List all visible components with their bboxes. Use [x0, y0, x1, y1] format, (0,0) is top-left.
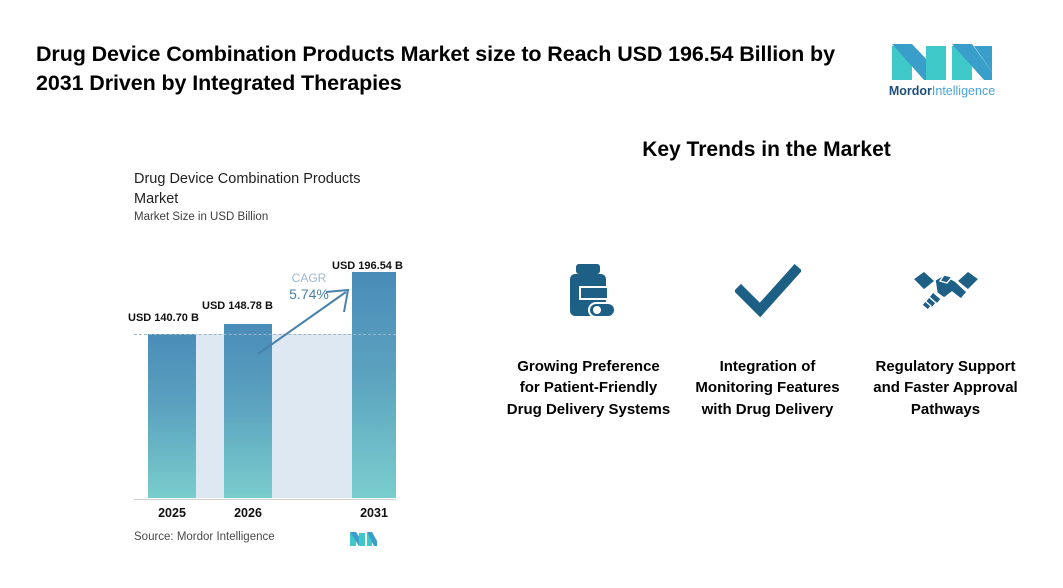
medicine-bottle-icon — [506, 248, 671, 334]
checkmark-icon — [685, 248, 850, 334]
chart-source: Source: Mordor Intelligence — [134, 531, 275, 543]
handshake-icon — [863, 248, 1028, 334]
logo-mark-icon — [886, 32, 998, 82]
x-axis-labels: 2025 2026 2031 — [134, 506, 396, 526]
chart-title: Drug Device Combination Products Market — [134, 170, 404, 209]
trend-text-1: Growing Preference for Patient-Friendly … — [506, 356, 671, 420]
bar-chart-plot: USD 140.70 B USD 148.78 B USD 196.54 B C… — [134, 272, 396, 498]
bar-label-2025: USD 140.70 B — [128, 312, 199, 324]
chart-subtitle: Market Size in USD Billion — [134, 211, 414, 223]
logo-brand-bold: Mordor — [889, 84, 932, 98]
growth-arrow-icon — [254, 280, 364, 358]
trend-item-2: Integration of Monitoring Features with … — [685, 248, 850, 420]
page-headline: Drug Device Combination Products Market … — [36, 40, 866, 98]
trend-item-1: Growing Preference for Patient-Friendly … — [506, 248, 671, 420]
trend-text-2: Integration of Monitoring Features with … — [685, 356, 850, 420]
trend-text-3: Regulatory Support and Faster Approval P… — [863, 356, 1028, 420]
x-tick-2025: 2025 — [148, 506, 196, 520]
x-axis-line — [134, 499, 396, 500]
x-tick-2026: 2026 — [224, 506, 272, 520]
bar-label-2031: USD 196.54 B — [332, 260, 403, 272]
page-header: Drug Device Combination Products Market … — [0, 0, 1063, 118]
mordor-intelligence-logo: MordorIntelligence — [886, 32, 998, 104]
bar-2025 — [148, 334, 196, 498]
logo-brand-light: Intelligence — [932, 84, 995, 98]
source-logo-icon — [348, 528, 378, 548]
key-trends-panel: Key Trends in the Market Growing Prefere… — [470, 118, 1063, 588]
trend-item-3: Regulatory Support and Faster Approval P… — [863, 248, 1028, 420]
logo-wordmark: MordorIntelligence — [886, 84, 998, 98]
key-trends-heading: Key Trends in the Market — [470, 138, 1063, 162]
x-tick-2031: 2031 — [352, 506, 396, 520]
chart-panel: Drug Device Combination Products Market … — [0, 118, 470, 588]
